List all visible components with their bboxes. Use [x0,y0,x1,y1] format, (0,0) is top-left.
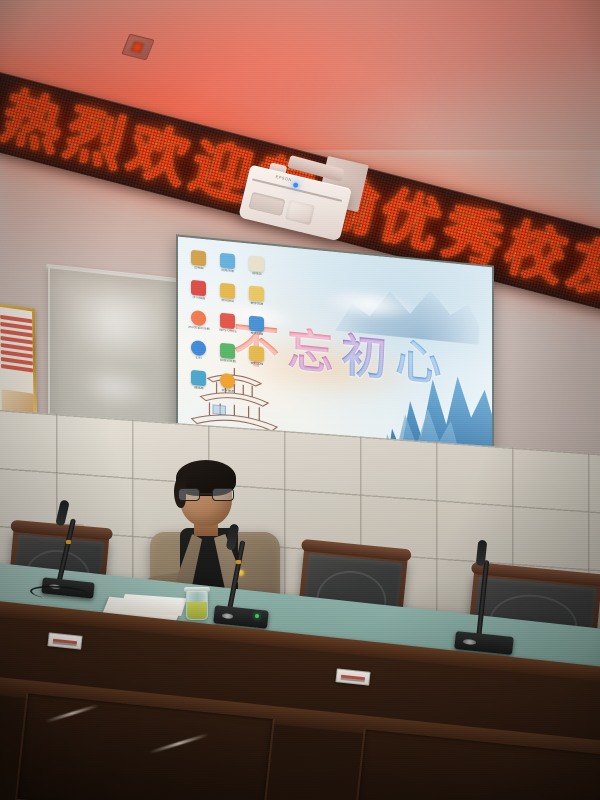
microphone-left-ring [66,540,71,544]
desktop-icon-4[interactable]: 学习强国 [186,280,212,309]
projector-brand-label: EPSON [275,174,292,183]
desktop-icon-5-label: 腾讯会议 [215,299,241,309]
desktop-icon-10-glyph [191,340,206,356]
conference-room-photo: 热烈欢迎戴瑜优秀校友来我 EPSON [0,0,600,800]
desktop-icon-9-label: 希沃白板 [244,331,270,341]
desktop-icon-12[interactable]: 我的文档 [244,345,270,374]
desktop-icon-11[interactable]: 极速浏览器 [215,343,241,372]
projector-lens [285,200,315,226]
eyeglass-bridge [200,493,212,495]
desktop-icon-9-glyph [249,316,264,332]
desktop-icon-4-label: 学习强国 [186,296,212,306]
desktop-icon-1-label: 此电脑 [186,266,212,276]
desktop-icon-2-label: 网络邻居 [215,269,241,279]
eyeglass-lens-right [212,488,234,501]
desktop-icon-7[interactable]: 360安全浏览器 [186,310,212,339]
desktop-icon-3[interactable]: 回收站 [244,255,270,284]
projector-vent [248,192,285,216]
desktop-icon-2-glyph [220,253,235,269]
desktop-icon-3-glyph [249,256,264,272]
desktop-icon-5-glyph [220,283,235,299]
desktop-icon-1[interactable]: 此电脑 [186,250,212,279]
desktop-icon-11-label: 极速浏览器 [215,359,241,369]
tea-cup [186,590,208,620]
framed-wall-poster [0,303,37,427]
projector-power-indicator-icon [293,182,299,188]
desktop-icon-12-label: 我的文档 [244,361,270,371]
desktop-icon-1-glyph [191,250,206,266]
desktop-icon-14-glyph [220,373,235,389]
poster-text-lines [0,315,33,376]
desktop-icon-7-label: 360安全浏览器 [186,326,212,336]
desktop-icon-grid: 此电脑 网络邻居 回收站 学习强国 腾讯会议 教学资源 360安全浏览器 WPS… [186,250,270,404]
desktop-icon-8-glyph [220,313,235,329]
desktop-icon-11-glyph [220,343,235,359]
desktop-icon-6-label: 教学资源 [244,301,270,311]
desktop-icon-7-glyph [191,310,206,326]
desktop-icon-10[interactable]: 钉钉 [186,340,212,369]
desktop-icon-13[interactable]: 播放器 [186,370,212,399]
desktop-icon-9[interactable]: 希沃白板 [244,315,270,344]
desktop-icon-5[interactable]: 腾讯会议 [215,283,241,312]
eyeglasses-icon [178,488,234,501]
desktop-icon-6[interactable]: 教学资源 [244,285,270,314]
desktop-icon-13-glyph [191,370,206,386]
desktop-icon-8[interactable]: WPS Office [215,313,241,342]
desktop-icon-8-label: WPS Office [215,329,241,339]
desktop-icon-6-glyph [249,286,264,302]
desktop-icon-12-glyph [249,346,264,362]
desktop-icon-3-label: 回收站 [244,271,270,281]
desktop-icon-13-label: 播放器 [186,386,212,396]
microphone-speaker-led-icon [255,614,259,618]
desktop-icon-2[interactable]: 网络邻居 [215,253,241,282]
desktop-icon-14-label: 软件管家 [215,389,241,399]
desktop-icon-4-glyph [191,280,206,296]
wallpaper-title-char-4: 心 [395,337,449,388]
eyeglass-lens-left [178,488,200,501]
microphone-speaker-ring [236,560,241,564]
desktop-icon-14[interactable]: 软件管家 [215,373,241,402]
tea-liquid [187,602,207,619]
desktop-icon-10-label: 钉钉 [186,356,212,366]
wallpaper-title-char-3: 初 [341,331,395,382]
wallpaper-title-char-2: 忘 [287,326,341,377]
